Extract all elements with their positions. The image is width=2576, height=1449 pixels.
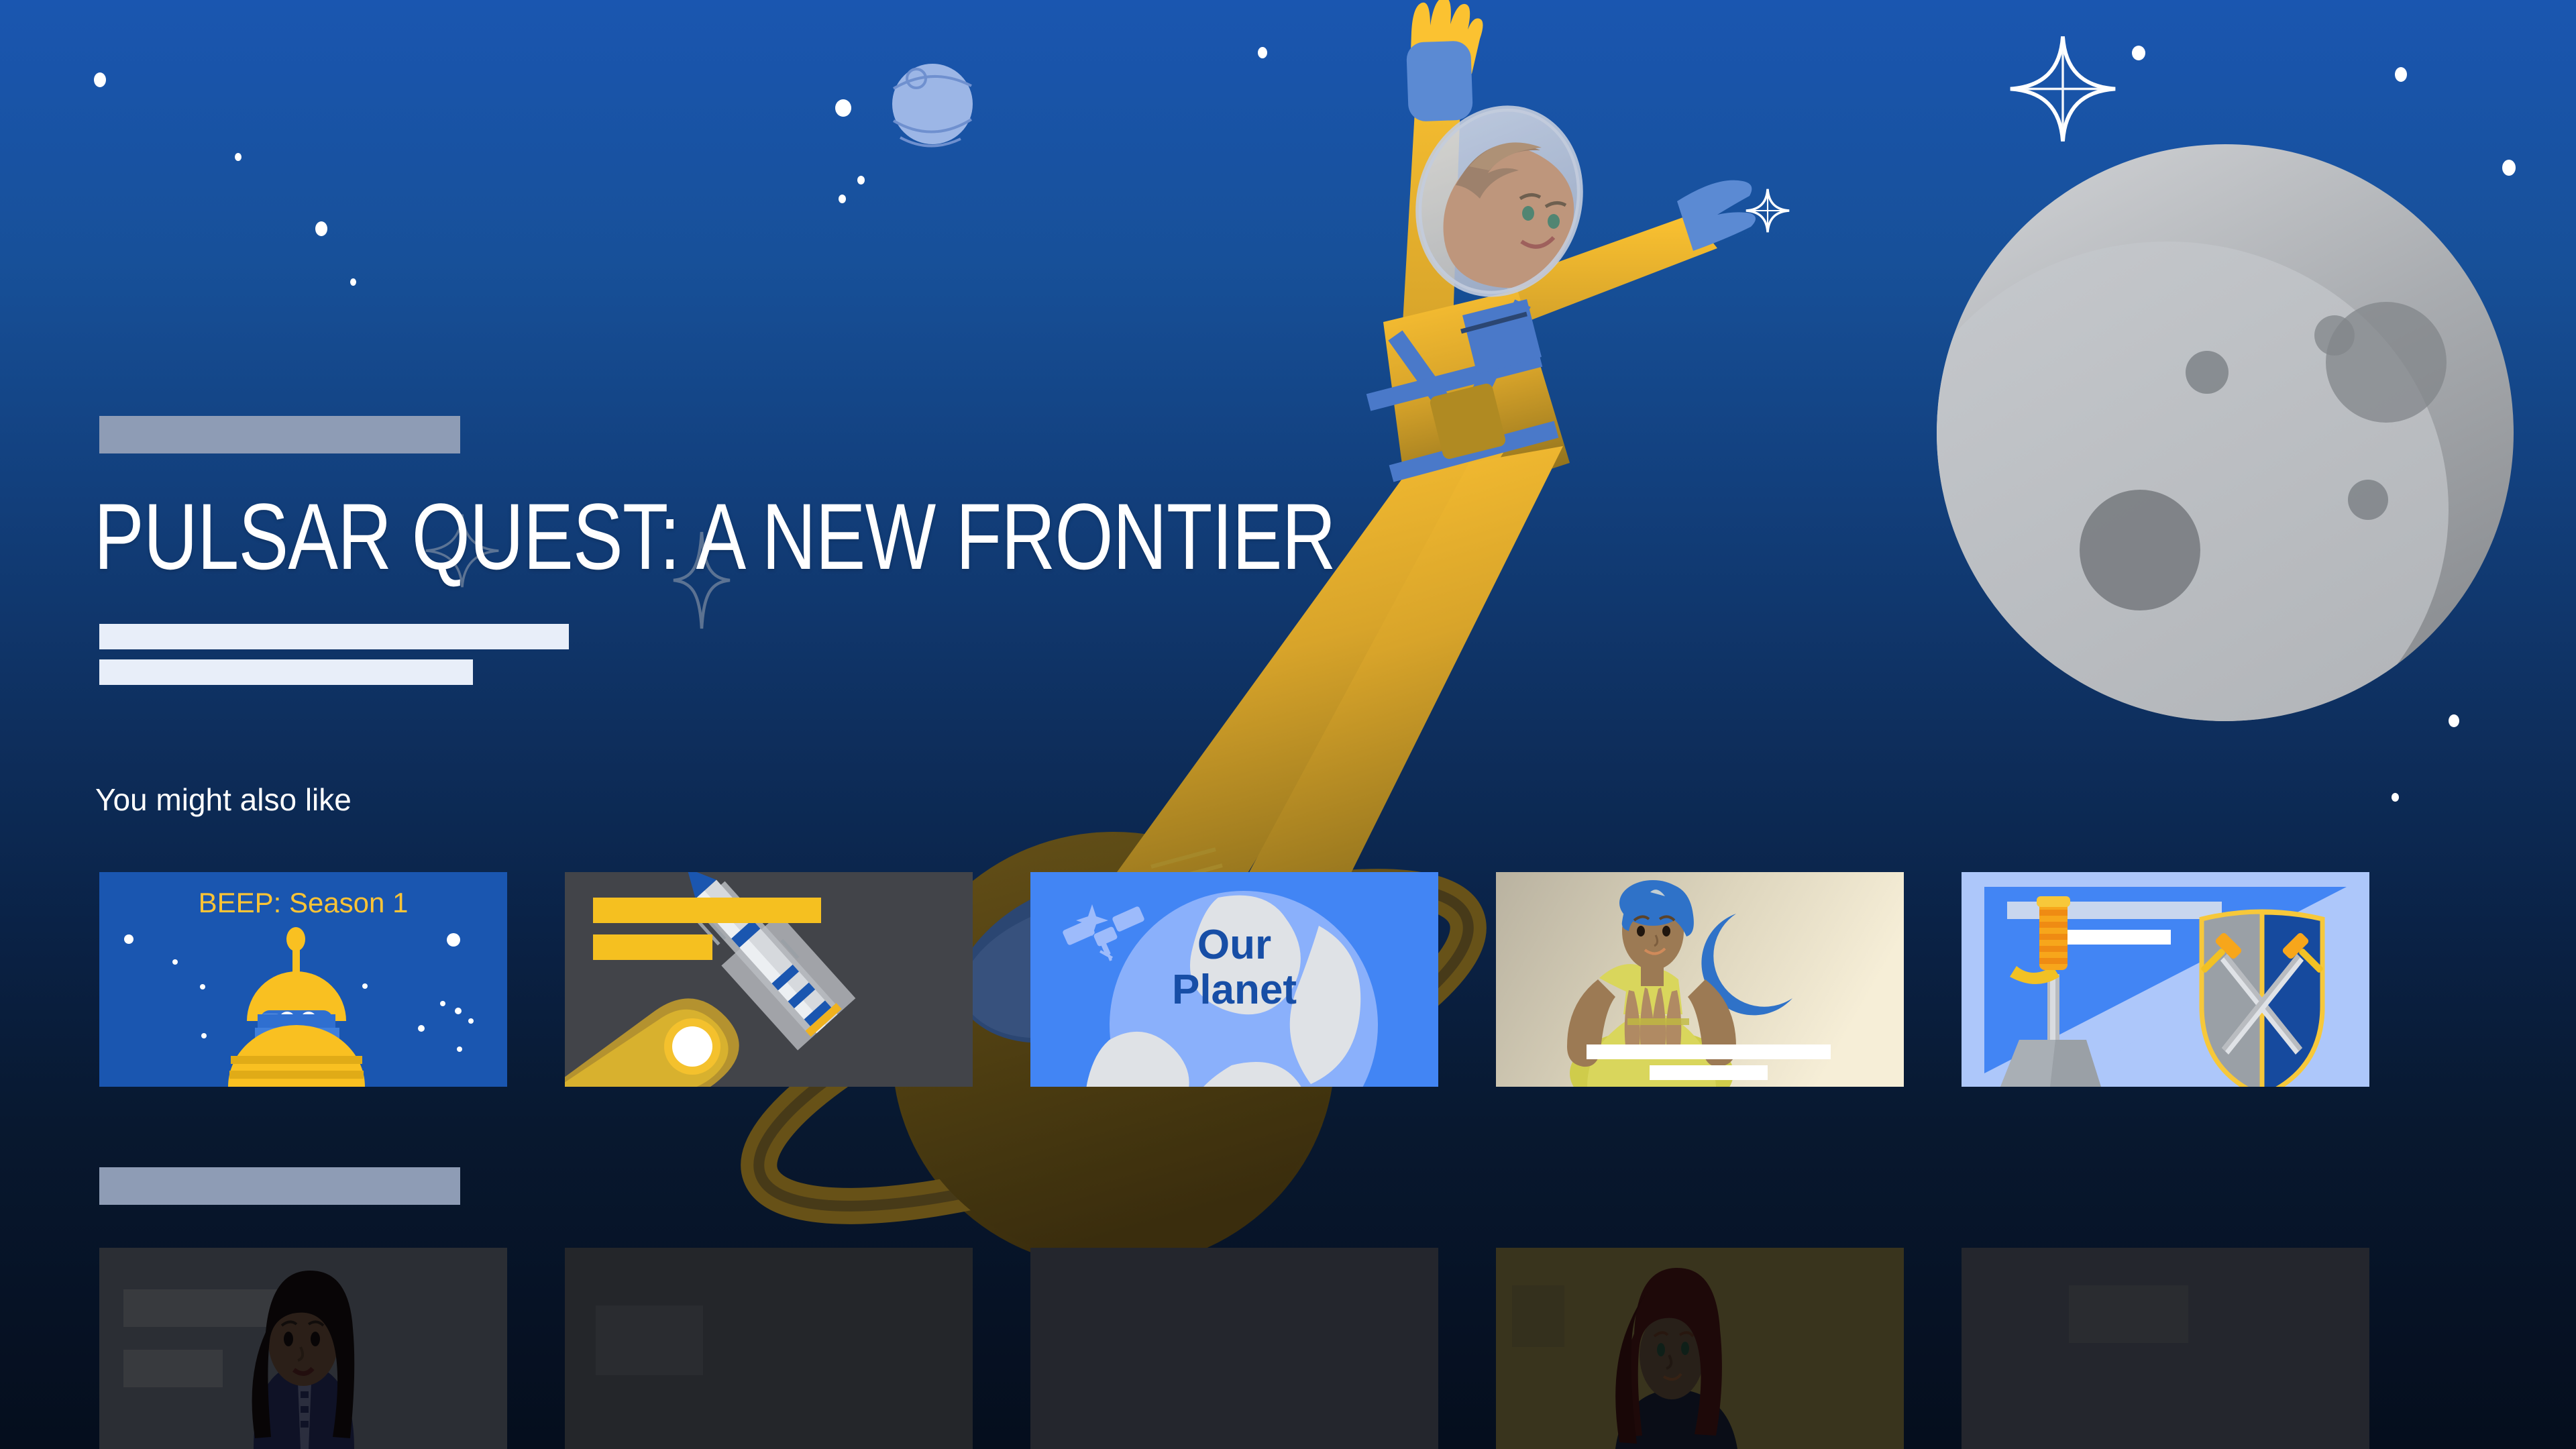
recommendation-row: BEEP: Season 1 bbox=[99, 872, 2369, 1087]
card-sword-quest[interactable] bbox=[1962, 872, 2369, 1087]
section-placeholder-bar bbox=[99, 1167, 460, 1205]
shield-icon bbox=[2200, 912, 2324, 1087]
woman-red-hair-portrait-icon bbox=[1496, 1248, 1904, 1449]
placeholder-art bbox=[1962, 1248, 2369, 1449]
placeholder-art bbox=[1030, 1248, 1438, 1449]
card-title: OurPlanet bbox=[1030, 923, 1438, 1013]
woman-meditating-icon bbox=[1496, 872, 1904, 1087]
card-row2-4[interactable] bbox=[1496, 1248, 1904, 1449]
card-beep-season-1[interactable]: BEEP: Season 1 bbox=[99, 872, 507, 1087]
card-row2-5[interactable] bbox=[1962, 1248, 2369, 1449]
card-our-planet[interactable]: OurPlanet bbox=[1030, 872, 1438, 1087]
card-title: BEEP: Season 1 bbox=[99, 887, 507, 919]
card-meditation[interactable] bbox=[1496, 872, 1904, 1087]
placeholder-art bbox=[565, 1248, 973, 1449]
section-heading: You might also like bbox=[95, 782, 352, 818]
card-row2-2[interactable] bbox=[565, 1248, 973, 1449]
card-row2-3[interactable] bbox=[1030, 1248, 1438, 1449]
card-row2-1[interactable] bbox=[99, 1248, 507, 1449]
page-title: PULSAR QUEST: A NEW FRONTIER bbox=[94, 490, 1336, 584]
card-rocket-launch[interactable] bbox=[565, 872, 973, 1087]
recommendation-row-secondary bbox=[99, 1248, 2369, 1449]
description-placeholder-line-1 bbox=[99, 624, 569, 649]
woman-portrait-icon bbox=[99, 1248, 507, 1449]
rocket-icon bbox=[565, 872, 973, 1087]
metadata-placeholder-top bbox=[99, 416, 460, 453]
sword-shield-icon bbox=[1962, 872, 2369, 1087]
description-placeholder-line-2 bbox=[99, 659, 473, 685]
